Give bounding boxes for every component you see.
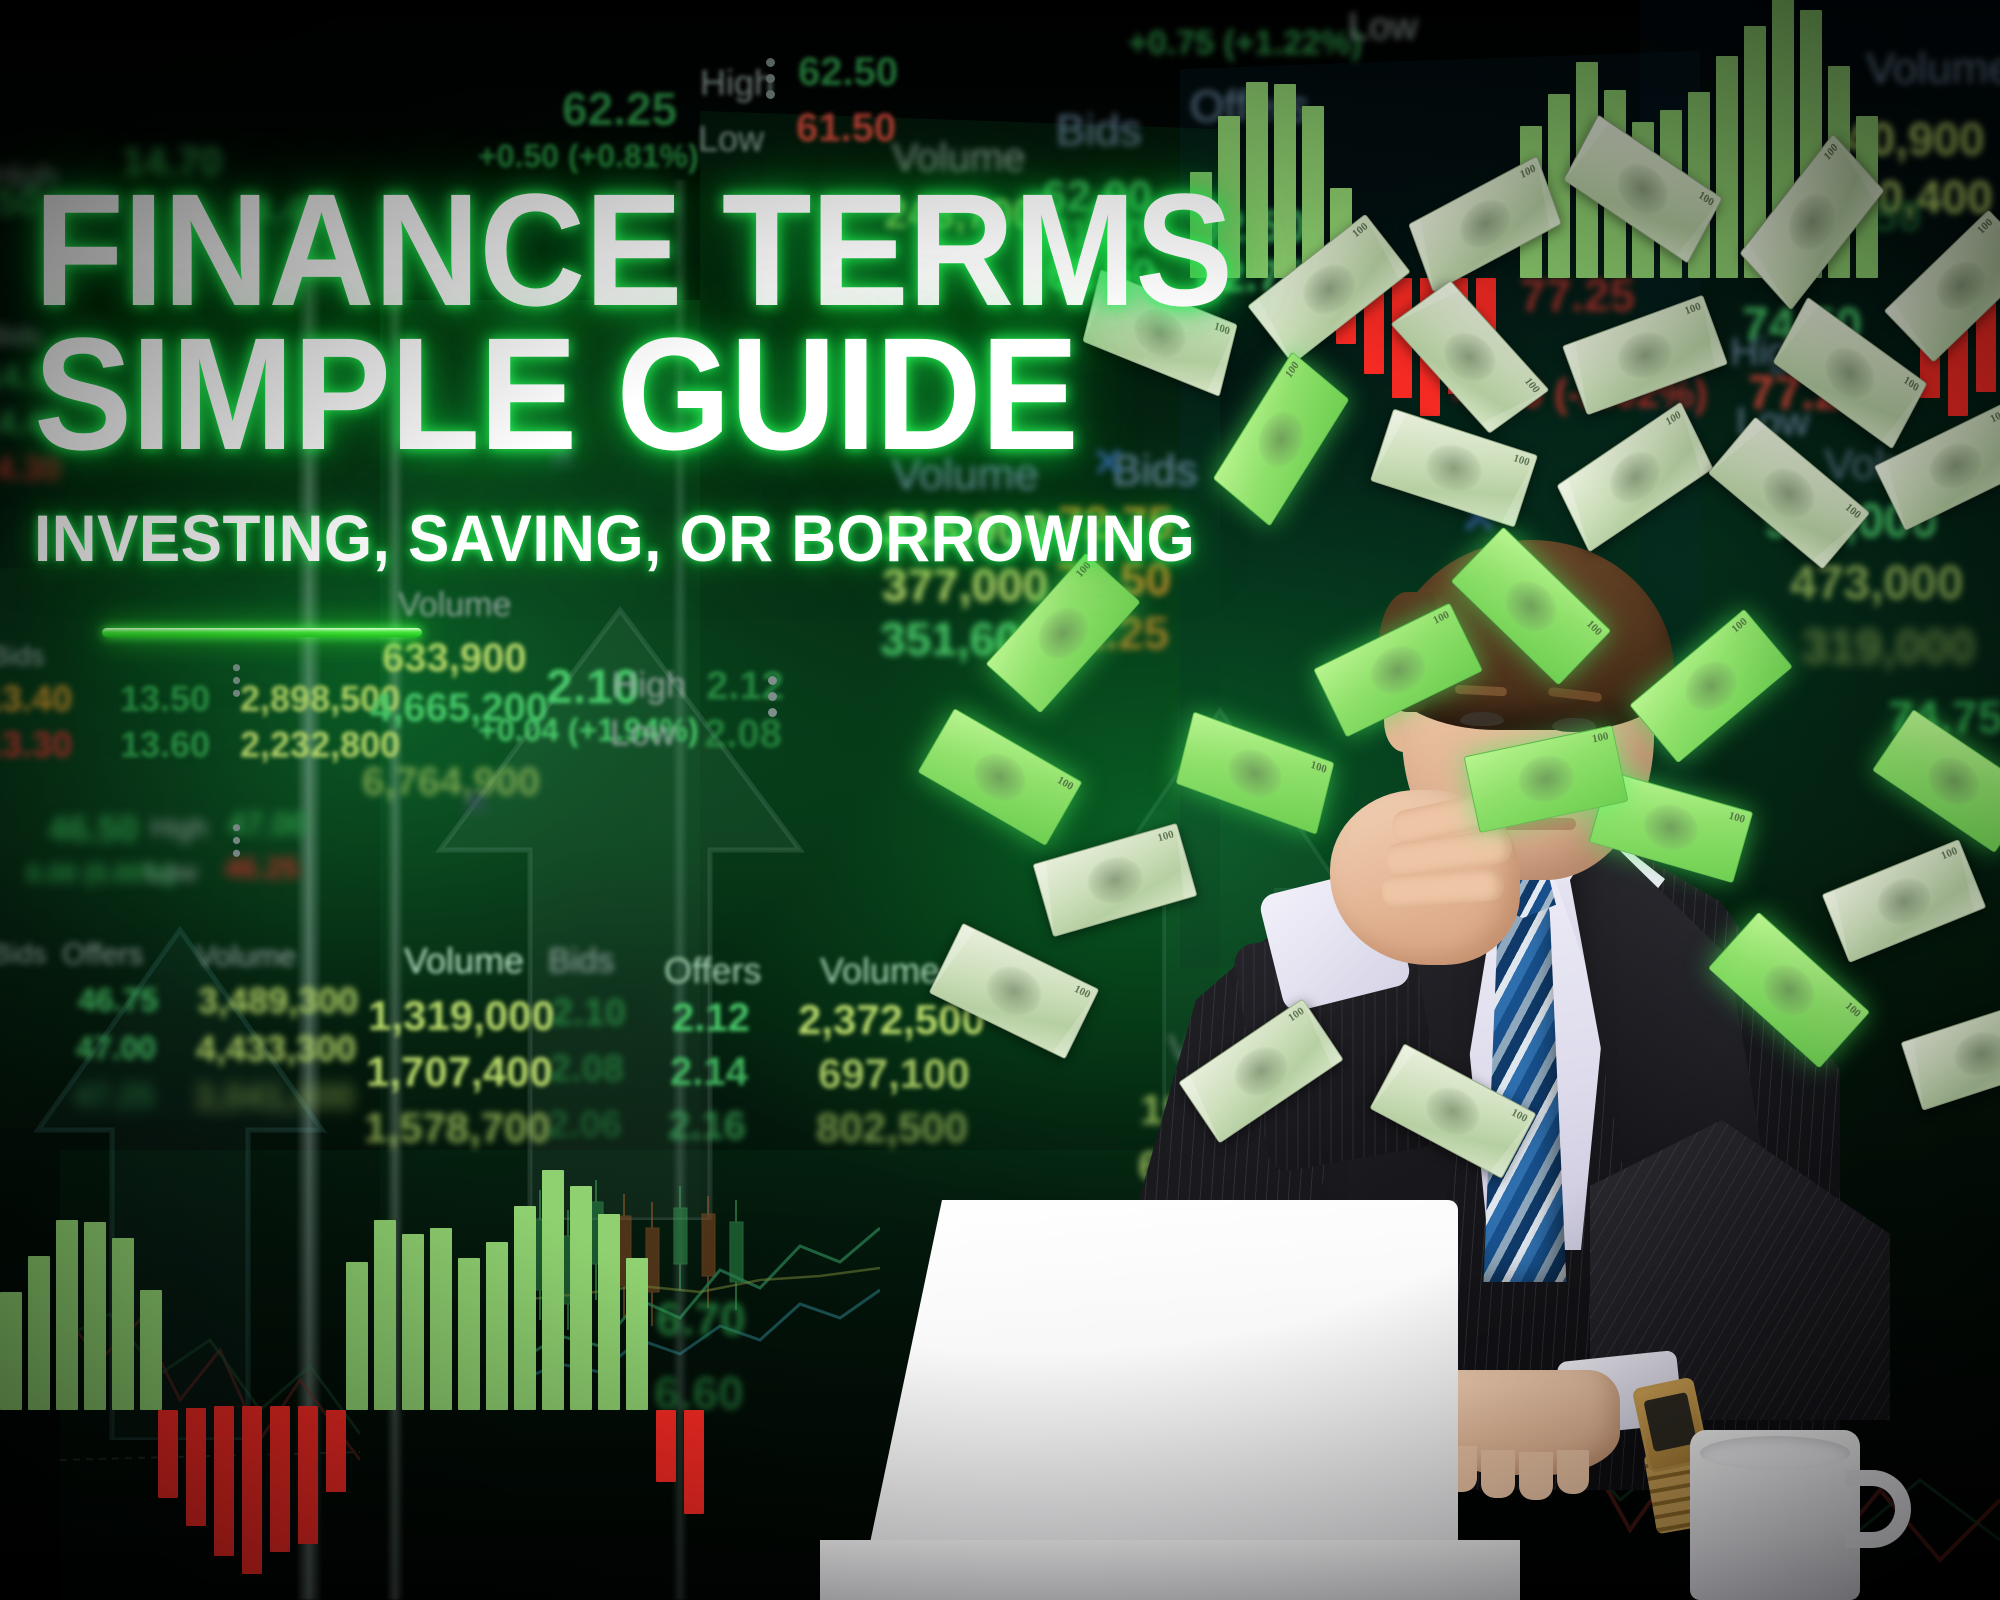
leftbottom-offer-3: 47.25 — [74, 1078, 154, 1115]
leftbottom-high-label: High — [150, 812, 208, 844]
leftbottom-low-label: Low — [146, 856, 197, 888]
leftbottom-offer-2: 47.00 — [76, 1030, 156, 1067]
midleft-volume-1: 633,900 — [382, 636, 527, 681]
midbook-offer-1: 2.12 — [672, 996, 750, 1041]
midbook-bids-label: Bids — [548, 942, 614, 981]
mid-volume-label: Volume — [404, 940, 524, 982]
leftbottom-vol-3: 3,041,400 — [194, 1076, 354, 1118]
kebab-menu-icon-4[interactable] — [233, 664, 240, 697]
mid-volume-3: 1,578,700 — [364, 1104, 551, 1152]
left-row2-bid: 13.30 — [0, 724, 72, 766]
quote3-low-label: Low — [1348, 6, 1418, 49]
coffee-mug — [1690, 1430, 1860, 1600]
left-row1-bid: 13.40 — [0, 678, 72, 720]
midbook-bid-1: 2.10 — [552, 992, 626, 1035]
accent-underline-bar — [102, 628, 422, 637]
quote1-low: 61.50 — [796, 106, 896, 151]
midbook-vol-2: 697,100 — [818, 1050, 970, 1098]
poster-canvas: 14.70 High 14.50 14.40 Bids 14.50 14.40 … — [0, 0, 2000, 1600]
leftbottom-last: 46.50 — [48, 808, 138, 850]
headline-line-2: SIMPLE GUIDE — [34, 322, 1232, 466]
midbook-bid-2: 2.08 — [550, 1048, 624, 1091]
midleft-volume-3: 6,764,900 — [362, 760, 540, 805]
midbook-offers-label: Offers — [664, 950, 761, 992]
quote2-low: 2.08 — [704, 712, 782, 757]
left-row1-offer: 13.50 — [120, 678, 210, 720]
leftbottom-offers-label: Offers — [62, 938, 143, 972]
left-row2-offer: 13.60 — [120, 724, 210, 766]
kebab-menu-icon-2[interactable] — [766, 58, 775, 99]
mid-volume-1: 1,319,000 — [368, 992, 555, 1040]
midbook-bid-3: 2.06 — [548, 1104, 622, 1147]
leftbottom-vol-2: 4,433,300 — [196, 1028, 356, 1070]
leftbottom-vol-1: 3,489,300 — [198, 980, 358, 1022]
knuckle-4 — [1557, 1450, 1589, 1494]
midbook-offer-2: 2.14 — [670, 1050, 748, 1095]
midbook-vol-3: 802,500 — [816, 1104, 968, 1152]
leftbottom-bids-label: Bids — [0, 938, 46, 970]
bar-chart-bottom-left — [0, 1210, 720, 1530]
quote1-low-label: Low — [698, 118, 764, 160]
quote2-high-label: High — [612, 664, 686, 706]
leftbottom-volume-label: Volume — [196, 940, 296, 974]
headline-block: FINANCE TERMS SIMPLE GUIDE INVESTING, SA… — [34, 178, 1337, 637]
quote3-change: +0.75 (+1.22%) — [1128, 24, 1362, 63]
leftbottom-low: 46.25 — [224, 852, 299, 886]
quote1-last: 62.25 — [562, 82, 677, 136]
leftbottom-offer-1: 46.75 — [78, 982, 158, 1019]
quote1-high-label: High — [700, 62, 774, 104]
midbook-volume-label: Volume — [820, 950, 940, 992]
quote2-low-label: Low — [610, 712, 676, 754]
quote1-high: 62.50 — [798, 50, 898, 95]
right-bids-label-top: Bids — [1056, 106, 1142, 156]
headline-subtitle: INVESTING, SAVING, OR BORROWING — [34, 500, 1258, 576]
close-icon-4[interactable]: ✕ — [460, 782, 490, 824]
knuckle-2 — [1481, 1450, 1515, 1498]
mid-volume-2: 1,707,400 — [366, 1048, 553, 1096]
laptop-base[interactable] — [820, 1540, 1520, 1600]
knuckle-3 — [1519, 1452, 1553, 1500]
headline-line-1: FINANCE TERMS — [34, 178, 1232, 322]
left-bids-label-mid: Bids — [0, 640, 44, 672]
kebab-menu-icon-3[interactable] — [768, 676, 777, 717]
midbook-offer-3: 2.16 — [668, 1104, 746, 1149]
kebab-menu-icon-1[interactable] — [233, 824, 240, 857]
farright-volume-5: 319,000 — [1802, 620, 1976, 675]
eye-left — [1460, 712, 1504, 726]
